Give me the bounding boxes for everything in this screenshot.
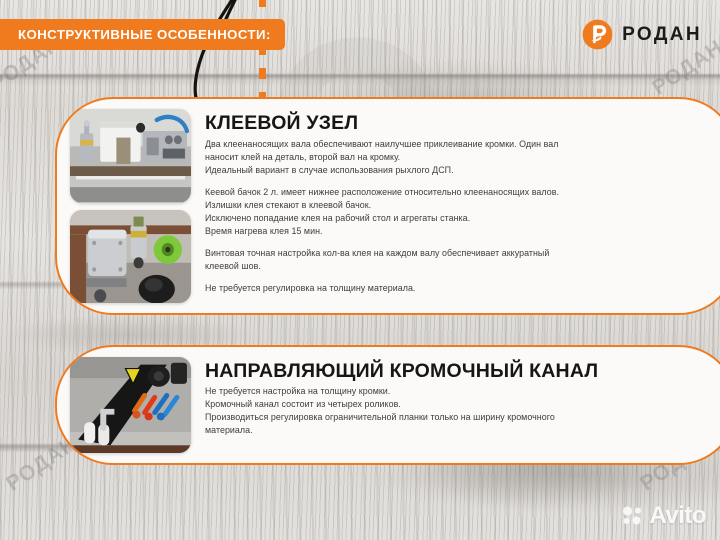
card-body: НАПРАВЛЯЮЩИЙ КРОМОЧНЫЙ КАНАЛ Не требуетс… xyxy=(191,347,720,463)
glue-tank-motor-photo xyxy=(70,210,191,304)
dashed-accent-line xyxy=(259,0,266,108)
card-paragraph: Кеевой бачок 2 л. имеет нижнее расположе… xyxy=(205,186,719,238)
feature-card-glue-unit: КЛЕЕВОЙ УЗЕЛ Два клеенаносящих вала обес… xyxy=(55,97,720,315)
avito-dots-icon xyxy=(622,506,644,526)
section-header-banner: КОНСТРУКТИВНЫЕ ОСОБЕННОСТИ: xyxy=(0,19,285,50)
card-title: КЛЕЕВОЙ УЗЕЛ xyxy=(205,113,719,134)
glue-unit-rollers-photo xyxy=(70,109,191,203)
card-paragraph: Не требуется настройка на толщину кромки… xyxy=(205,385,719,437)
card-media-column xyxy=(57,347,191,463)
edge-guide-channel-photo xyxy=(70,357,191,453)
rodan-logo-icon xyxy=(582,19,613,50)
card-paragraph: Не требуется регулировка на толщину мате… xyxy=(205,282,719,295)
brand-logo: РОДАН xyxy=(582,19,702,50)
card-body: КЛЕЕВОЙ УЗЕЛ Два клеенаносящих вала обес… xyxy=(191,99,720,313)
card-paragraph: Два клеенаносящих вала обеспечивают наил… xyxy=(205,138,719,177)
feature-card-edge-channel: НАПРАВЛЯЮЩИЙ КРОМОЧНЫЙ КАНАЛ Не требуетс… xyxy=(55,345,720,465)
section-header-label: КОНСТРУКТИВНЫЕ ОСОБЕННОСТИ: xyxy=(18,27,271,42)
avito-watermark: Avito xyxy=(622,502,706,530)
card-paragraph: Винтовая точная настройка кол-ва клея на… xyxy=(205,247,719,273)
card-media-column xyxy=(57,99,191,313)
brand-name: РОДАН xyxy=(622,24,702,46)
card-title: НАПРАВЛЯЮЩИЙ КРОМОЧНЫЙ КАНАЛ xyxy=(205,361,719,382)
avito-label: Avito xyxy=(649,502,706,530)
